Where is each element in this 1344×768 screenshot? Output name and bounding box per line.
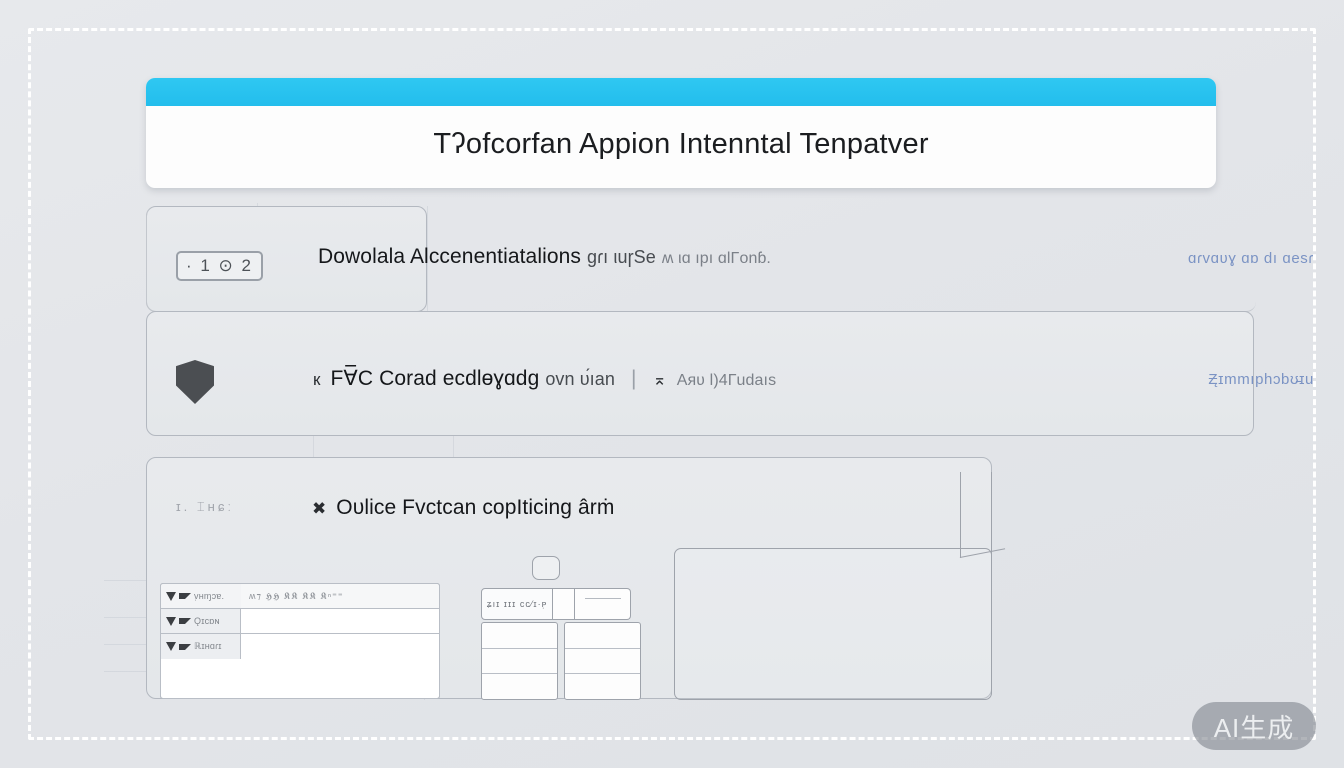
row-1-link[interactable]: ɑɾvɑʋɣ ɑɒ dı ɑesɾ	[1188, 250, 1314, 267]
row-2-title: FⱯ̅C Corad ecdlɵɣɑdɡ	[330, 367, 539, 390]
grid-header-label: ʑıɪ ɪɪɪ ᴄᴄ⁄ɪ·ᴘ̣	[481, 588, 553, 620]
grid-header-right	[575, 588, 631, 620]
filter-icon[interactable]	[179, 644, 191, 650]
row-3-title: Oυlice Fvctcan copIticing ârṁ	[336, 496, 614, 519]
panel-flap-decoration	[960, 472, 992, 558]
placeholder-line-icon	[585, 598, 621, 599]
row-1-leading: · 1 ⊙ 2	[176, 251, 263, 281]
toggle-pill-icon[interactable]	[532, 556, 560, 580]
row-2-meta: Aᴙʋ l)4Гudaıs	[677, 372, 776, 389]
shield-icon	[176, 360, 214, 404]
ai-watermark-badge: AI生成	[1192, 702, 1316, 750]
table-row[interactable]: Ǫɪᴄɒɴ	[161, 609, 439, 634]
row-1-meta: ʍ ιɑ ıpı ɑlΓonɓ.	[662, 250, 771, 267]
row-2-subtitle: ovn ᴜ́ıan	[545, 369, 615, 389]
grid-cell[interactable]	[565, 649, 640, 675]
grid-widget-columns	[481, 622, 641, 700]
empty-panel[interactable]	[674, 548, 992, 700]
grid-cell[interactable]	[565, 623, 640, 649]
row-1-title: Dowolala Alccenentiatalions	[318, 245, 581, 268]
row-1-subtitle: ɡɾı ιuɼSe	[587, 247, 656, 267]
row-2-leading	[176, 360, 214, 404]
row-3-glyph-icon: ✖	[312, 499, 326, 518]
filter-icon[interactable]	[166, 642, 176, 651]
table-cell-value	[241, 634, 439, 659]
filter-icon[interactable]	[166, 617, 176, 626]
table-cell-value	[241, 609, 439, 633]
grid-cell[interactable]	[482, 623, 557, 649]
grid-cell[interactable]	[482, 674, 557, 699]
grid-column[interactable]	[564, 622, 641, 700]
row-2-glyph-icon: к	[313, 370, 321, 389]
row-2-separator: |	[631, 367, 637, 390]
filter-icon[interactable]	[166, 592, 176, 601]
grid-widget[interactable]: ʑıɪ ɪɪɪ ᴄᴄ⁄ɪ·ᴘ̣	[481, 588, 641, 700]
table-cell-label: Ǫɪᴄɒɴ	[161, 609, 241, 633]
filter-icon[interactable]	[179, 618, 191, 624]
number-badge-icon: · 1 ⊙ 2	[176, 251, 263, 281]
page-title: Tʔofcorfan Appion Intenntal Tenpatver	[146, 106, 1216, 188]
small-marks-icon: ɪ. ⌶ʜɕː	[176, 499, 234, 515]
header-card: Tʔofcorfan Appion Intenntal Tenpatver	[146, 78, 1216, 188]
filter-icon[interactable]	[179, 593, 191, 599]
table-cell-value: ʍ⁊ 𝕳𝕳 𝕶𝕶 𝕶𝕶 𝕶ⁿ⁼⁼	[241, 584, 439, 608]
table-cell-label: ᴠ̣ʜɱɔɐ.	[161, 584, 241, 608]
row-2-link[interactable]: Ƶ̨ɪmmıphɔbʊ̵ɪu	[1208, 371, 1314, 388]
grid-cell[interactable]	[565, 674, 640, 699]
row-1-text: Dowolala Alccenentiatalions ɡɾı ιuɼSe ʍ …	[318, 245, 771, 269]
row-2-text: к FⱯ̅C Corad ecdlɵɣɑdɡ ovn ᴜ́ıan | ⌅ Aᴙʋ…	[313, 366, 776, 391]
row-3-text: ✖ Oυlice Fvctcan copIticing ârṁ	[312, 496, 614, 520]
header-accent-bar	[146, 78, 1216, 106]
grid-column[interactable]	[481, 622, 558, 700]
table-cell-label: ℝɪʜɑɾɪ	[161, 634, 241, 659]
grid-widget-header: ʑıɪ ɪɪɪ ᴄᴄ⁄ɪ·ᴘ̣	[481, 588, 631, 620]
table-row[interactable]: ℝɪʜɑɾɪ	[161, 634, 439, 659]
grid-cell[interactable]	[482, 649, 557, 675]
table-widget[interactable]: ᴠ̣ʜɱɔɐ. ʍ⁊ 𝕳𝕳 𝕶𝕶 𝕶𝕶 𝕶ⁿ⁼⁼ Ǫɪᴄɒɴ ℝɪʜɑɾɪ	[160, 583, 440, 699]
row-2-pin-icon: ⌅	[652, 370, 666, 389]
grid-header-spacer	[553, 588, 575, 620]
table-row[interactable]: ᴠ̣ʜɱɔɐ. ʍ⁊ 𝕳𝕳 𝕶𝕶 𝕶𝕶 𝕶ⁿ⁼⁼	[161, 584, 439, 609]
